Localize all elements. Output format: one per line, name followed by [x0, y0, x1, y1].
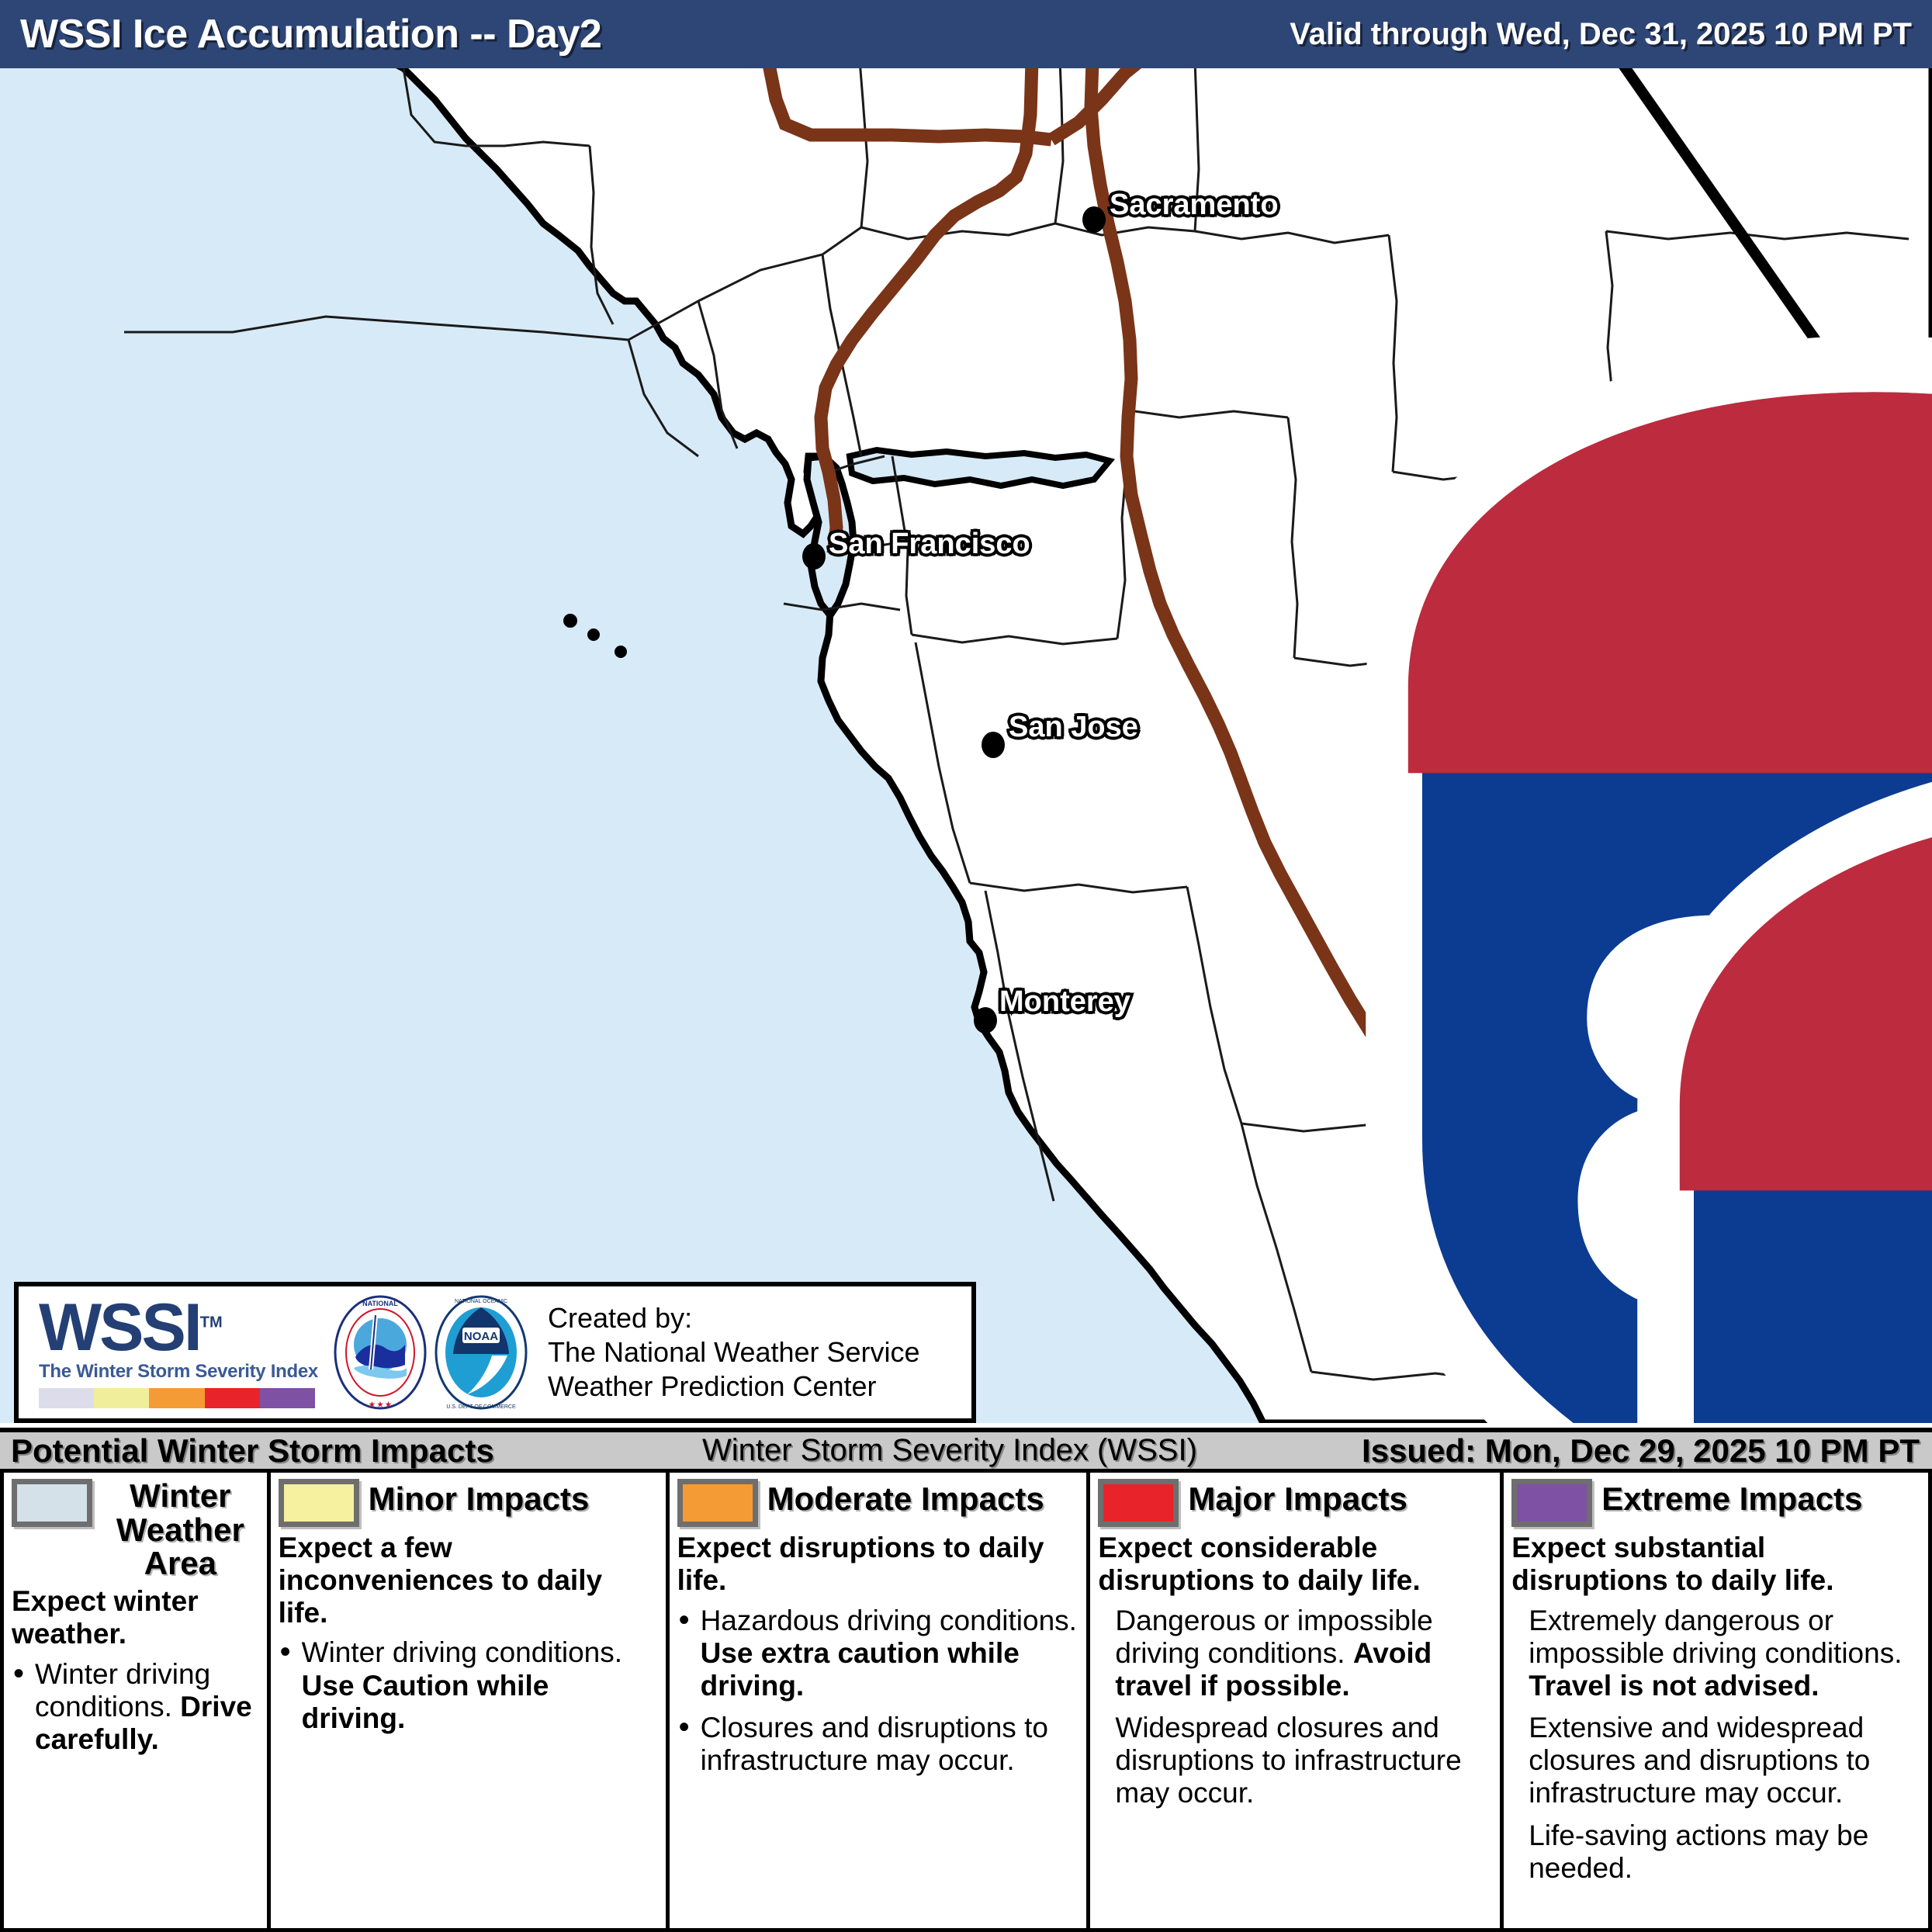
wssi-scale-swatch-winter: [39, 1388, 94, 1408]
list-item: Dangerous or impossible driving conditio…: [1098, 1605, 1492, 1703]
list-item: Widespread closures and disruptions to i…: [1098, 1712, 1492, 1810]
wssi-trademark-symbol: TM: [200, 1314, 223, 1331]
nws-seal-stars: ★ ★ ★: [369, 1401, 392, 1408]
legend-lead-moderate-impacts: Expect disruptions to daily life.: [677, 1532, 1079, 1597]
wssi-map-page: WSSI Ice Accumulation -- Day2 Valid thro…: [0, 0, 1932, 1932]
interstate-5-shield-icon: 5: [1179, 711, 1240, 785]
created-by-line-3: Weather Prediction Center: [548, 1369, 920, 1404]
agency-seals: NATIONAL ★ ★ ★ NOAA NATIONAL OCEANIC U.S…: [321, 1293, 540, 1411]
legend-column-winter-weather-area[interactable]: Winter Weather Area Expect winter weathe…: [4, 1473, 267, 1928]
legend-column-moderate-impacts[interactable]: Moderate Impacts Expect disruptions to d…: [666, 1473, 1087, 1928]
legend-lead-minor-impacts: Expect a few inconveniences to daily lif…: [279, 1532, 658, 1629]
impacts-heading: Potential Winter Storm Impacts: [11, 1432, 494, 1470]
island-farallon-3: [615, 646, 627, 658]
wssi-scale-swatch-moderate: [149, 1388, 204, 1408]
wssi-brand-mark: WSSITM The Winter Storm Severity Index: [19, 1297, 321, 1409]
list-item: Closures and disruptions to infrastructu…: [677, 1712, 1079, 1777]
wssi-logo-box: WSSITM The Winter Storm Severity Index: [14, 1282, 976, 1423]
noaa-seal-ring-bottom: U.S. DEPT OF COMMERCE: [446, 1404, 516, 1410]
legend-swatch-extreme-impacts: [1511, 1479, 1592, 1527]
impact-legend: Winter Weather Area Expect winter weathe…: [0, 1473, 1932, 1932]
wssi-scale-swatch-minor: [94, 1388, 149, 1408]
wssi-subtitle: The Winter Storm Severity Index: [39, 1361, 321, 1383]
legend-title-moderate-impacts: Moderate Impacts: [767, 1479, 1044, 1516]
wssi-wordmark-text: WSSI: [39, 1290, 200, 1365]
legend-title-extreme-impacts: Extreme Impacts: [1601, 1479, 1862, 1516]
nws-seal-ring-text: NATIONAL: [362, 1300, 398, 1307]
legend-title-winter-weather-area: Winter Weather Area: [102, 1479, 259, 1581]
noaa-seal-icon: NOAA NATIONAL OCEANIC U.S. DEPT OF COMME…: [433, 1293, 529, 1411]
legend-bullets-minor-impacts: Winter driving conditions. Use Caution w…: [279, 1636, 658, 1735]
created-by-block: Created by: The National Weather Service…: [540, 1301, 920, 1404]
legend-swatch-winter-weather-area: [12, 1479, 92, 1527]
legend-column-minor-impacts[interactable]: Minor Impacts Expect a few inconvenience…: [267, 1473, 666, 1928]
map-canvas[interactable]: Sacramento San Francisco San Jose Fresno…: [0, 68, 1932, 1423]
created-by-line-1: Created by:: [548, 1301, 920, 1335]
legend-swatch-moderate-impacts: [677, 1479, 758, 1527]
legend-bullets-moderate-impacts: Hazardous driving conditions. Use extra …: [677, 1605, 1079, 1778]
legend-column-major-impacts[interactable]: Major Impacts Expect considerable disrup…: [1086, 1473, 1500, 1928]
list-item: Extremely dangerous or impossible drivin…: [1511, 1605, 1920, 1703]
interstate-80-shield-icon: 80: [908, 293, 968, 368]
legend-swatch-minor-impacts: [279, 1479, 359, 1527]
list-item: Winter driving conditions. Drive careful…: [12, 1658, 259, 1757]
legend-swatch-major-impacts: [1098, 1479, 1179, 1527]
legend-bullets-winter-weather-area: Winter driving conditions. Drive careful…: [12, 1658, 259, 1757]
created-by-line-2: The National Weather Service: [548, 1335, 920, 1369]
valid-through-label: Valid through Wed, Dec 31, 2025 10 PM PT: [1290, 17, 1912, 52]
island-farallon-2: [587, 628, 600, 641]
legend-title-minor-impacts: Minor Impacts: [369, 1479, 590, 1516]
page-title: WSSI Ice Accumulation -- Day2: [20, 11, 601, 57]
legend-bullets-major-impacts: Dangerous or impossible driving conditio…: [1098, 1605, 1492, 1810]
list-item: Winter driving conditions. Use Caution w…: [279, 1636, 658, 1735]
issued-timestamp: Issued: Mon, Dec 29, 2025 10 PM PT: [1362, 1432, 1920, 1470]
wssi-scale-swatch-major: [205, 1388, 260, 1408]
legend-lead-major-impacts: Expect considerable disruptions to daily…: [1098, 1532, 1492, 1597]
wssi-scale-swatch-extreme: [260, 1388, 315, 1408]
impacts-title-bar: Potential Winter Storm Impacts Winter St…: [0, 1428, 1932, 1473]
noaa-seal-ring-top: NATIONAL OCEANIC: [455, 1299, 507, 1304]
noaa-seal-text: NOAA: [464, 1330, 498, 1343]
legend-bullets-extreme-impacts: Extremely dangerous or impossible drivin…: [1511, 1605, 1920, 1885]
island-farallon-1: [563, 614, 577, 628]
wssi-wordmark: WSSITM: [39, 1297, 321, 1360]
list-item: Life-saving actions may be needed.: [1511, 1819, 1920, 1885]
wssi-color-scale: [39, 1388, 315, 1408]
legend-lead-winter-weather-area: Expect winter weather.: [12, 1585, 259, 1650]
city-dot-san-francisco: [802, 543, 826, 570]
legend-title-major-impacts: Major Impacts: [1188, 1479, 1407, 1516]
list-item: Hazardous driving conditions. Use extra …: [677, 1605, 1079, 1703]
city-label-sacramento: Sacramento: [1110, 189, 1279, 222]
header-bar: WSSI Ice Accumulation -- Day2 Valid thro…: [0, 0, 1932, 68]
nws-seal-icon: NATIONAL ★ ★ ★: [332, 1293, 428, 1411]
wssi-subheading: Winter Storm Severity Index (WSSI): [702, 1433, 1197, 1468]
list-item: Extensive and widespread closures and di…: [1511, 1712, 1920, 1810]
legend-column-extreme-impacts[interactable]: Extreme Impacts Expect substantial disru…: [1500, 1473, 1928, 1928]
legend-lead-extreme-impacts: Expect substantial disruptions to daily …: [1511, 1532, 1920, 1597]
city-dot-sacramento: [1082, 206, 1106, 233]
